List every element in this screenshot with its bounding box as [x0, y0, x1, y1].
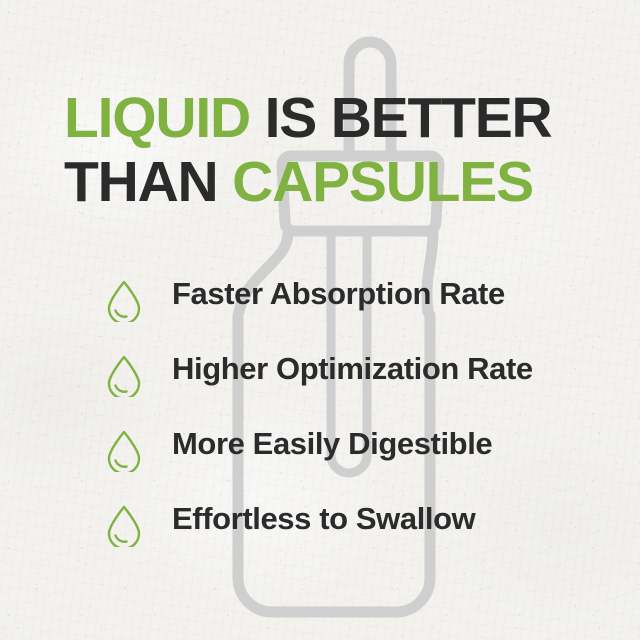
headline-line-2: THAN CAPSULES — [64, 150, 604, 214]
headline-word-capsules: CAPSULES — [232, 150, 533, 214]
poster-canvas: LIQUID IS BETTER THAN CAPSULES Faster Ab… — [0, 0, 640, 640]
benefit-label: More Easily Digestible — [172, 422, 492, 466]
list-item: Faster Absorption Rate — [104, 272, 604, 347]
water-drop-icon — [104, 278, 144, 322]
benefits-list: Faster Absorption Rate Higher Optimizati… — [104, 272, 604, 572]
list-item: Effortless to Swallow — [104, 497, 604, 572]
benefit-label: Effortless to Swallow — [172, 497, 475, 541]
headline-word-than: THAN — [64, 150, 232, 214]
water-drop-icon — [104, 428, 144, 472]
headline-word-liquid: LIQUID — [64, 86, 250, 150]
list-item: Higher Optimization Rate — [104, 347, 604, 422]
water-drop-icon — [104, 353, 144, 397]
benefit-label: Faster Absorption Rate — [172, 272, 505, 316]
headline: LIQUID IS BETTER THAN CAPSULES — [64, 86, 604, 214]
benefit-label: Higher Optimization Rate — [172, 347, 533, 391]
headline-line-1: LIQUID IS BETTER — [64, 86, 604, 150]
list-item: More Easily Digestible — [104, 422, 604, 497]
water-drop-icon — [104, 503, 144, 547]
headline-phrase-is-better: IS BETTER — [250, 86, 552, 150]
